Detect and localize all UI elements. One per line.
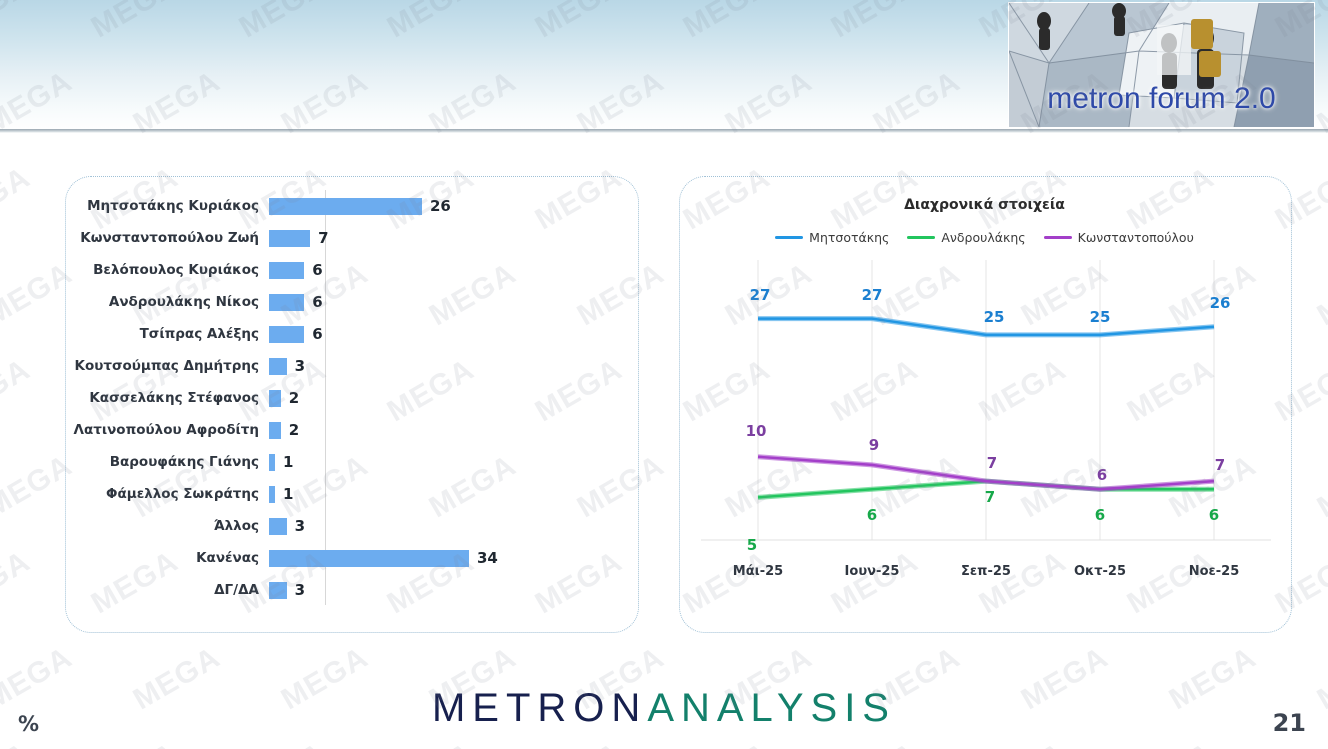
- bar-chart-row: Τσίπρας Αλέξης6: [66, 318, 636, 350]
- x-axis-tick-label: Νοε-25: [1157, 564, 1271, 579]
- bar-category-label: Κανένας: [66, 550, 269, 566]
- data-point-label: 7: [987, 454, 997, 472]
- bar-chart-row: Άλλος3: [66, 510, 636, 542]
- bar-value-label: 3: [295, 517, 305, 535]
- bar-category-label: ΔΓ/ΔΑ: [66, 582, 269, 598]
- data-point-label: 25: [1090, 308, 1111, 326]
- bar-category-label: Λατινοπούλου Αφροδίτη: [66, 422, 269, 438]
- bar-value-label: 3: [295, 357, 305, 375]
- bar-chart-row: Κασσελάκης Στέφανος2: [66, 382, 636, 414]
- data-point-label: 7: [1215, 456, 1225, 474]
- data-point-label: 6: [1095, 506, 1105, 524]
- watermark-text: MEGA: [826, 737, 924, 749]
- bar-track: 3: [269, 510, 636, 542]
- bar-chart-row: Λατινοπούλου Αφροδίτη2: [66, 414, 636, 446]
- bar-value-label: 2: [289, 421, 299, 439]
- watermark-text: MEGA: [678, 737, 776, 749]
- watermark-text: MEGA: [1312, 449, 1328, 525]
- bar-fill: [269, 358, 287, 375]
- bar-track: 6: [269, 318, 636, 350]
- bar-value-label: 26: [430, 197, 451, 215]
- legend-swatch: [775, 236, 803, 239]
- watermark-text: MEGA: [1122, 737, 1220, 749]
- bar-track: 1: [269, 478, 636, 510]
- legend-label: Κωνσταντοπούλου: [1078, 230, 1194, 245]
- bar-chart-row: Κωνσταντοπούλου Ζωή7: [66, 222, 636, 254]
- page-number: 21: [1273, 709, 1306, 737]
- bar-fill: [269, 486, 275, 503]
- bar-chart-row: Βελόπουλος Κυριάκος6: [66, 254, 636, 286]
- bar-chart-row: Φάμελλος Σωκράτης1: [66, 478, 636, 510]
- data-point-label: 27: [750, 286, 771, 304]
- line-chart-plot-area: 272725252656766109767: [701, 260, 1271, 550]
- watermark-text: MEGA: [0, 737, 36, 749]
- watermark-text: MEGA: [974, 737, 1072, 749]
- watermark-text: MEGA: [382, 737, 480, 749]
- x-axis-tick-label: Σεπ-25: [929, 564, 1043, 579]
- data-point-label: 5: [747, 536, 757, 554]
- x-axis-tick-label: Οκτ-25: [1043, 564, 1157, 579]
- bar-category-label: Άλλος: [66, 518, 269, 534]
- legend-swatch: [907, 236, 935, 239]
- watermark-text: MEGA: [0, 545, 36, 621]
- data-point-label: 26: [1210, 294, 1231, 312]
- best-pm-bar-chart: Μητσοτάκης Κυριάκος26Κωνσταντοπούλου Ζωή…: [66, 190, 636, 618]
- bar-category-label: Μητσοτάκης Κυριάκος: [66, 198, 269, 214]
- metron-analysis-logo: METRONANALYSIS: [0, 686, 1328, 731]
- bar-value-label: 34: [477, 549, 498, 567]
- watermark-text: MEGA: [530, 737, 628, 749]
- bar-fill: [269, 582, 287, 599]
- legend-label: Μητσοτάκης: [809, 230, 889, 245]
- bar-category-label: Ανδρουλάκης Νίκος: [66, 294, 269, 310]
- bar-value-label: 1: [283, 453, 293, 471]
- bar-track: 6: [269, 286, 636, 318]
- header-divider: [0, 129, 1328, 133]
- bar-value-label: 2: [289, 389, 299, 407]
- bar-track: 7: [269, 222, 636, 254]
- bar-chart-rows: Μητσοτάκης Κυριάκος26Κωνσταντοπούλου Ζωή…: [66, 190, 636, 606]
- data-point-label: 6: [1209, 506, 1219, 524]
- bar-chart-row: Κανένας34: [66, 542, 636, 574]
- data-point-label: 10: [746, 422, 767, 440]
- bar-fill: [269, 518, 287, 535]
- logo-analysis: ANALYSIS: [647, 686, 896, 730]
- legend-item[interactable]: Μητσοτάκης: [775, 230, 889, 245]
- bar-chart-row: Μητσοτάκης Κυριάκος26: [66, 190, 636, 222]
- bar-chart-row: ΔΓ/ΔΑ3: [66, 574, 636, 606]
- bar-track: 34: [269, 542, 636, 574]
- data-point-label: 27: [862, 286, 883, 304]
- forum-logo-text: metron forum 2.0: [1009, 82, 1314, 116]
- data-point-label: 25: [984, 308, 1005, 326]
- bar-category-label: Τσίπρας Αλέξης: [66, 326, 269, 342]
- bar-category-label: Κασσελάκης Στέφανος: [66, 390, 269, 406]
- line-chart-x-axis-labels: Μάι-25Ιουν-25Σεπ-25Οκτ-25Νοε-25: [701, 564, 1271, 579]
- bar-track: 6: [269, 254, 636, 286]
- watermark-text: MEGA: [0, 161, 36, 237]
- legend-item[interactable]: Κωνσταντοπούλου: [1044, 230, 1194, 245]
- bar-fill: [269, 294, 304, 311]
- bar-chart-row: Βαρουφάκης Γιάνης1: [66, 446, 636, 478]
- line-chart-legend: ΜητσοτάκηςΑνδρουλάκηςΚωνσταντοπούλου: [679, 230, 1290, 245]
- bar-value-label: 1: [283, 485, 293, 503]
- line-chart-title: Διαχρονικά στοιχεία: [679, 197, 1290, 213]
- bar-fill: [269, 230, 310, 247]
- bar-category-label: Κουτσούμπας Δημήτρης: [66, 358, 269, 374]
- watermark-text: MEGA: [234, 737, 332, 749]
- bar-fill: [269, 262, 304, 279]
- bar-fill: [269, 454, 275, 471]
- bar-track: 26: [269, 190, 636, 222]
- bar-value-label: 6: [312, 261, 322, 279]
- bar-track: 3: [269, 350, 636, 382]
- bar-fill: [269, 390, 281, 407]
- bar-track: 1: [269, 446, 636, 478]
- watermark-text: MEGA: [86, 737, 184, 749]
- bar-value-label: 3: [295, 581, 305, 599]
- x-axis-tick-label: Μάι-25: [701, 564, 815, 579]
- bar-value-label: 6: [312, 293, 322, 311]
- legend-swatch: [1044, 236, 1072, 239]
- bar-fill: [269, 198, 422, 215]
- bar-fill: [269, 550, 469, 567]
- bar-chart-row: Κουτσούμπας Δημήτρης3: [66, 350, 636, 382]
- watermark-text: MEGA: [1312, 257, 1328, 333]
- percent-symbol: %: [18, 712, 39, 736]
- timeline-line-chart: Διαχρονικά στοιχεία ΜητσοτάκηςΑνδρουλάκη…: [679, 176, 1290, 631]
- data-point-label: 6: [867, 506, 877, 524]
- data-point-label: 9: [869, 436, 879, 454]
- bar-track: 3: [269, 574, 636, 606]
- logo-metron: METRON: [432, 686, 647, 730]
- bar-track: 2: [269, 382, 636, 414]
- data-point-label: 7: [985, 488, 995, 506]
- legend-item[interactable]: Ανδρουλάκης: [907, 230, 1025, 245]
- bar-category-label: Βαρουφάκης Γιάνης: [66, 454, 269, 470]
- bar-category-label: Φάμελλος Σωκράτης: [66, 486, 269, 502]
- bar-fill: [269, 326, 304, 343]
- metron-forum-logo: metron forum 2.0: [1008, 2, 1315, 128]
- watermark-text: MEGA: [1270, 737, 1328, 749]
- bar-fill: [269, 422, 281, 439]
- data-point-label: 6: [1097, 466, 1107, 484]
- x-axis-tick-label: Ιουν-25: [815, 564, 929, 579]
- line-chart-svg: [701, 260, 1271, 550]
- legend-label: Ανδρουλάκης: [941, 230, 1025, 245]
- bar-chart-row: Ανδρουλάκης Νίκος6: [66, 286, 636, 318]
- bar-value-label: 7: [318, 229, 328, 247]
- bar-category-label: Βελόπουλος Κυριάκος: [66, 262, 269, 278]
- watermark-text: MEGA: [0, 353, 36, 429]
- bar-category-label: Κωνσταντοπούλου Ζωή: [66, 230, 269, 246]
- bar-value-label: 6: [312, 325, 322, 343]
- bar-track: 2: [269, 414, 636, 446]
